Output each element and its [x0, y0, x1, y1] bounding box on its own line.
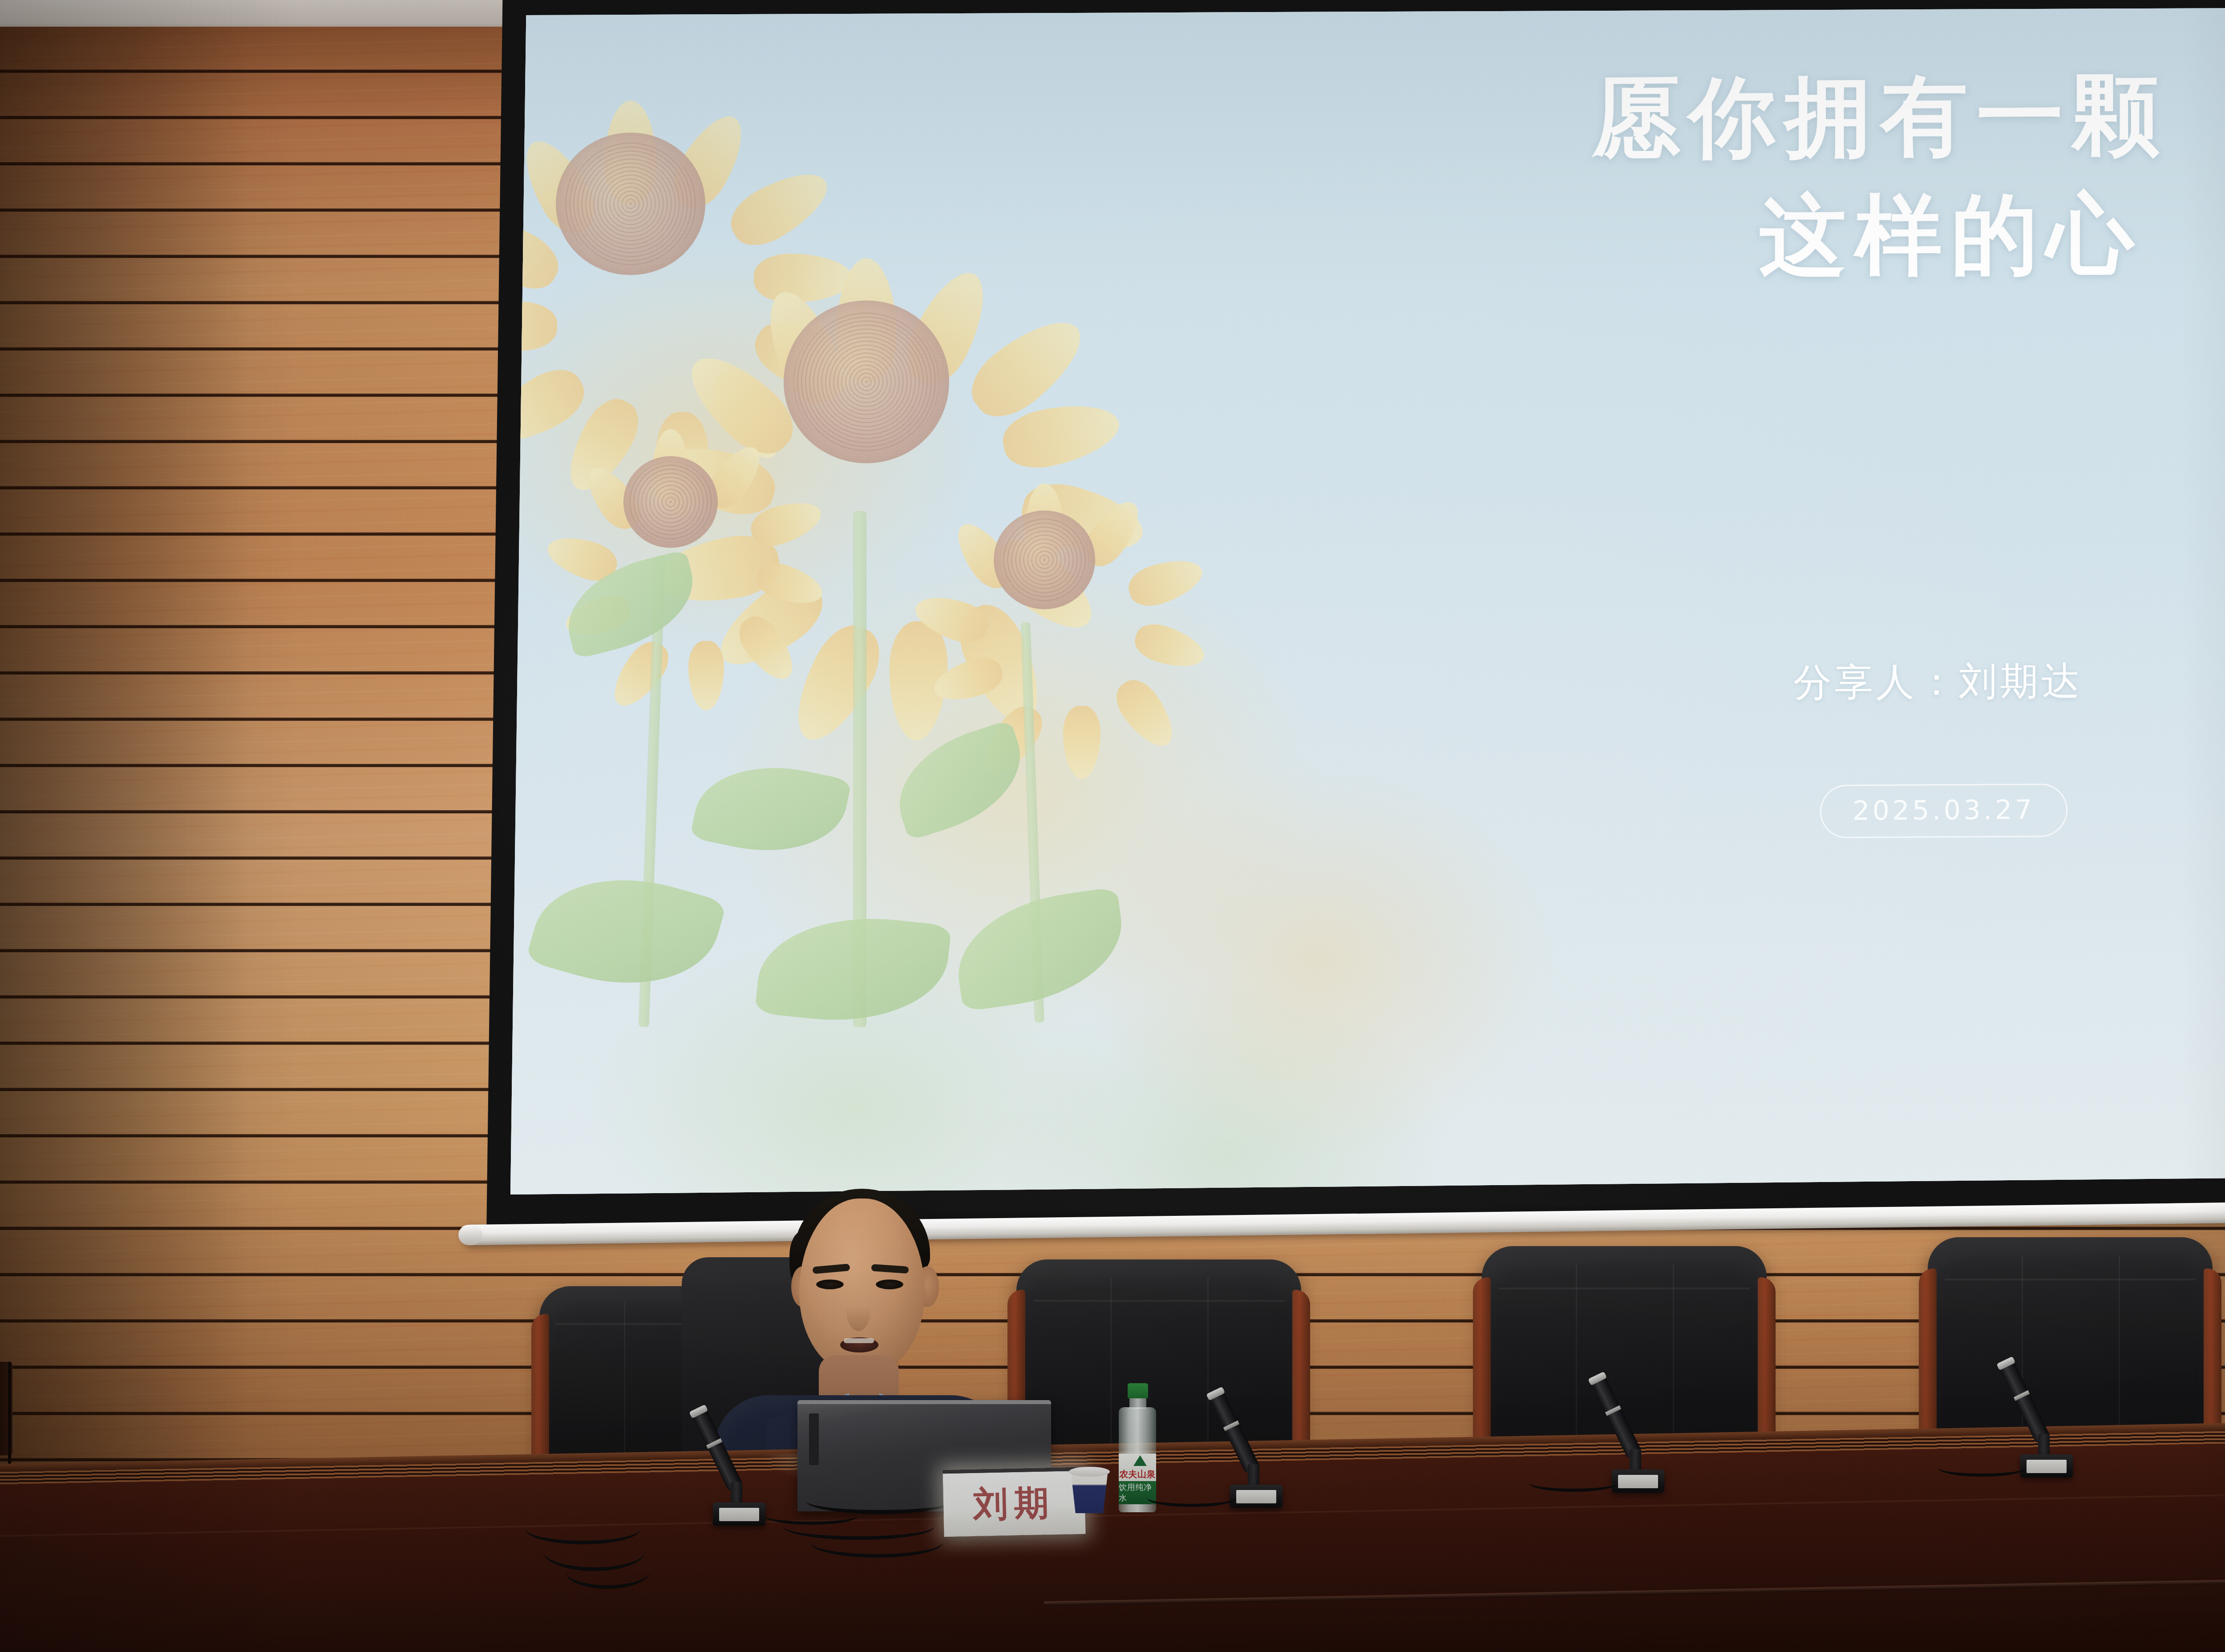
- bottle-logo-icon: [1133, 1455, 1147, 1466]
- cup-body: [1071, 1474, 1108, 1513]
- conference-microphone[interactable]: [1230, 1370, 1363, 1508]
- slide-presenter-label: 分享人：刘期达: [1793, 655, 2083, 709]
- slide-title-line-1: 愿你拥有一颗: [1593, 63, 2168, 169]
- mic-label: [719, 1508, 759, 1521]
- mic-ring: [2014, 1390, 2030, 1401]
- cable-strand: [810, 1526, 943, 1558]
- mic-label: [2027, 1460, 2067, 1473]
- conference-microphone[interactable]: [1612, 1355, 1745, 1493]
- mic-base: [713, 1502, 765, 1526]
- roller-cap-left: [458, 1225, 483, 1246]
- cup-rim: [1069, 1467, 1110, 1477]
- presenter-teeth: [844, 1338, 874, 1343]
- mic-ring: [1605, 1405, 1621, 1416]
- mic-ring: [1223, 1421, 1239, 1431]
- presenter-eye-right: [876, 1279, 903, 1289]
- mic-label: [1236, 1490, 1276, 1503]
- conference-microphone[interactable]: [2020, 1340, 2154, 1478]
- name-plate-text: 刘期: [973, 1480, 1056, 1528]
- slide-title: 愿你拥有一颗 这样的心: [1190, 55, 2168, 298]
- presenter-eye-left: [816, 1279, 844, 1289]
- bottle-label-upper: 农夫山泉: [1119, 1454, 1156, 1481]
- mic-cable: [1938, 1459, 2027, 1477]
- mic-cable: [1529, 1474, 1618, 1492]
- mic-ring: [706, 1438, 722, 1449]
- presenter-nose: [846, 1290, 870, 1331]
- mic-base: [1230, 1485, 1282, 1508]
- cable-strand: [565, 1553, 650, 1589]
- cable-bundle: [525, 1504, 659, 1593]
- conference-microphone[interactable]: [713, 1388, 846, 1526]
- name-plate: 刘期: [943, 1467, 1085, 1537]
- mic-base: [2020, 1454, 2073, 1478]
- conference-room-scene: 愿你拥有一颗 这样的心 分享人：刘期达 2025.03.27: [0, 0, 2225, 1652]
- slide-date-badge: 2025.03.27: [1820, 783, 2067, 838]
- slide-title-line-2: 这样的心: [1190, 174, 2143, 298]
- slide-surface: 愿你拥有一颗 这样的心 分享人：刘期达 2025.03.27: [510, 8, 2225, 1194]
- sunflower-bloom: [947, 462, 1142, 658]
- bottle-neck: [1129, 1397, 1146, 1409]
- projection-screen: 愿你拥有一颗 这样的心 分享人：刘期达 2025.03.27: [483, 0, 2225, 1234]
- paper-cup[interactable]: [1069, 1467, 1110, 1513]
- bottle-cap: [1128, 1383, 1148, 1398]
- mic-cable: [1147, 1489, 1236, 1507]
- mic-base: [1612, 1470, 1664, 1493]
- bottle-brand-text: 农夫山泉: [1119, 1468, 1156, 1480]
- cable-bundle: [783, 1513, 917, 1602]
- mic-label: [1618, 1475, 1658, 1488]
